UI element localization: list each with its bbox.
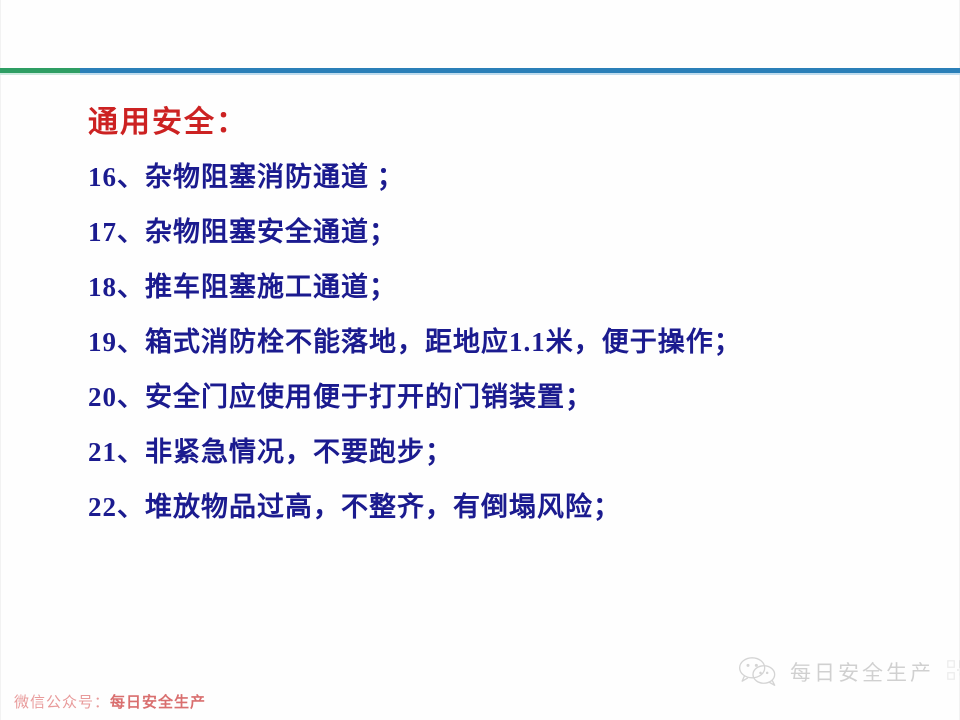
divider-segment-blue-shadow xyxy=(80,73,960,75)
wechat-account-name: 每日安全生产 xyxy=(790,657,934,687)
slide-content: 通用安全： 16、杂物阻塞消防通道 ； 17、杂物阻塞安全通道； 18、推车阻塞… xyxy=(88,104,920,521)
list-item: 17、杂物阻塞安全通道； xyxy=(88,219,920,246)
list-item: 19、箱式消防栓不能落地，距地应1.1米，便于操作； xyxy=(88,329,920,356)
list-item: 21、非紧急情况，不要跑步； xyxy=(88,439,920,466)
section-title: 通用安全： xyxy=(88,104,920,142)
safety-item-list: 16、杂物阻塞消防通道 ； 17、杂物阻塞安全通道； 18、推车阻塞施工通道； … xyxy=(88,164,920,521)
header-divider-rule xyxy=(0,68,960,73)
wechat-logo-icon xyxy=(738,655,778,689)
slide-canvas: 通用安全： 16、杂物阻塞消防通道 ； 17、杂物阻塞安全通道； 18、推车阻塞… xyxy=(0,0,960,720)
page-edge-left xyxy=(0,0,1,720)
wechat-watermark: 每日安全生产 xyxy=(738,655,960,689)
list-item: 20、安全门应使用便于打开的门销装置； xyxy=(88,384,920,411)
divider-segment-green-shadow xyxy=(0,73,80,75)
credit-account-name: 每日安全生产 xyxy=(110,694,206,711)
list-item: 18、推车阻塞施工通道； xyxy=(88,274,920,301)
qr-code-icon xyxy=(946,659,960,686)
credit-label: 微信公众号： xyxy=(14,694,110,711)
list-item: 16、杂物阻塞消防通道 ； xyxy=(88,164,920,191)
list-item: 22、堆放物品过高，不整齐，有倒塌风险； xyxy=(88,494,920,521)
credit-line: 微信公众号：每日安全生产 xyxy=(14,691,206,712)
